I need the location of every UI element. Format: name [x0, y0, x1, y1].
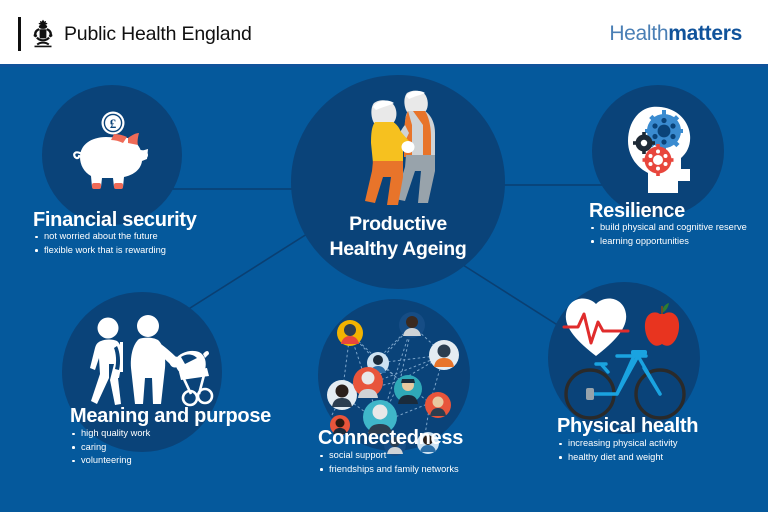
list-item: high quality work	[70, 427, 150, 441]
two-older-people-walking-icon	[345, 85, 455, 205]
list-item: volunteering	[70, 454, 150, 468]
health-matters-light-word: Health	[609, 22, 668, 45]
financial-security-title: Financial security	[33, 209, 197, 232]
people-with-pram-icon	[85, 312, 210, 417]
logo-divider-rule	[18, 17, 21, 51]
organisation-name: Public Health England	[64, 23, 252, 46]
public-health-england-logo: Public Health England	[18, 17, 252, 51]
connectedness-bullets: social support friendships and family ne…	[318, 449, 459, 476]
resilience-bullets: build physical and cognitive reserve lea…	[589, 221, 747, 248]
meaning-purpose-bullets: high quality work caring volunteering	[70, 427, 150, 468]
list-item: build physical and cognitive reserve	[589, 221, 747, 235]
list-item: flexible work that is rewarding	[33, 244, 166, 258]
center-title-line-2: Healthy Ageing	[291, 237, 505, 262]
health-matters-bold-word: matters	[668, 22, 742, 45]
list-item: increasing physical activity	[557, 437, 678, 451]
heart-apple-bicycle-icon	[562, 294, 694, 422]
piggy-bank-icon: £	[68, 109, 160, 201]
list-item: learning opportunities	[589, 235, 747, 249]
list-item: friendships and family networks	[318, 463, 459, 477]
health-matters-logo: Healthmatters	[609, 22, 742, 46]
head-with-gears-icon	[618, 103, 702, 197]
connectedness-title: Connectedness	[318, 427, 463, 450]
list-item: not worried about the future	[33, 230, 166, 244]
royal-crest-icon	[30, 19, 56, 49]
physical-health-bullets: increasing physical activity healthy die…	[557, 437, 678, 464]
page-header: Public Health England Healthmatters	[0, 0, 768, 67]
list-item: social support	[318, 449, 459, 463]
svg-text:£: £	[110, 116, 117, 131]
physical-health-title: Physical health	[557, 415, 698, 438]
meaning-purpose-title: Meaning and purpose	[70, 405, 271, 428]
resilience-title: Resilience	[589, 200, 685, 223]
list-item: caring	[70, 441, 150, 455]
financial-security-bullets: not worried about the future flexible wo…	[33, 230, 166, 257]
infographic-page: Public Health England Healthmatters	[0, 0, 768, 512]
diagram-canvas: £ Financial security not worried about t…	[0, 67, 768, 512]
center-title: Productive Healthy Ageing	[291, 212, 505, 262]
list-item: healthy diet and weight	[557, 451, 678, 465]
center-title-line-1: Productive	[291, 212, 505, 237]
